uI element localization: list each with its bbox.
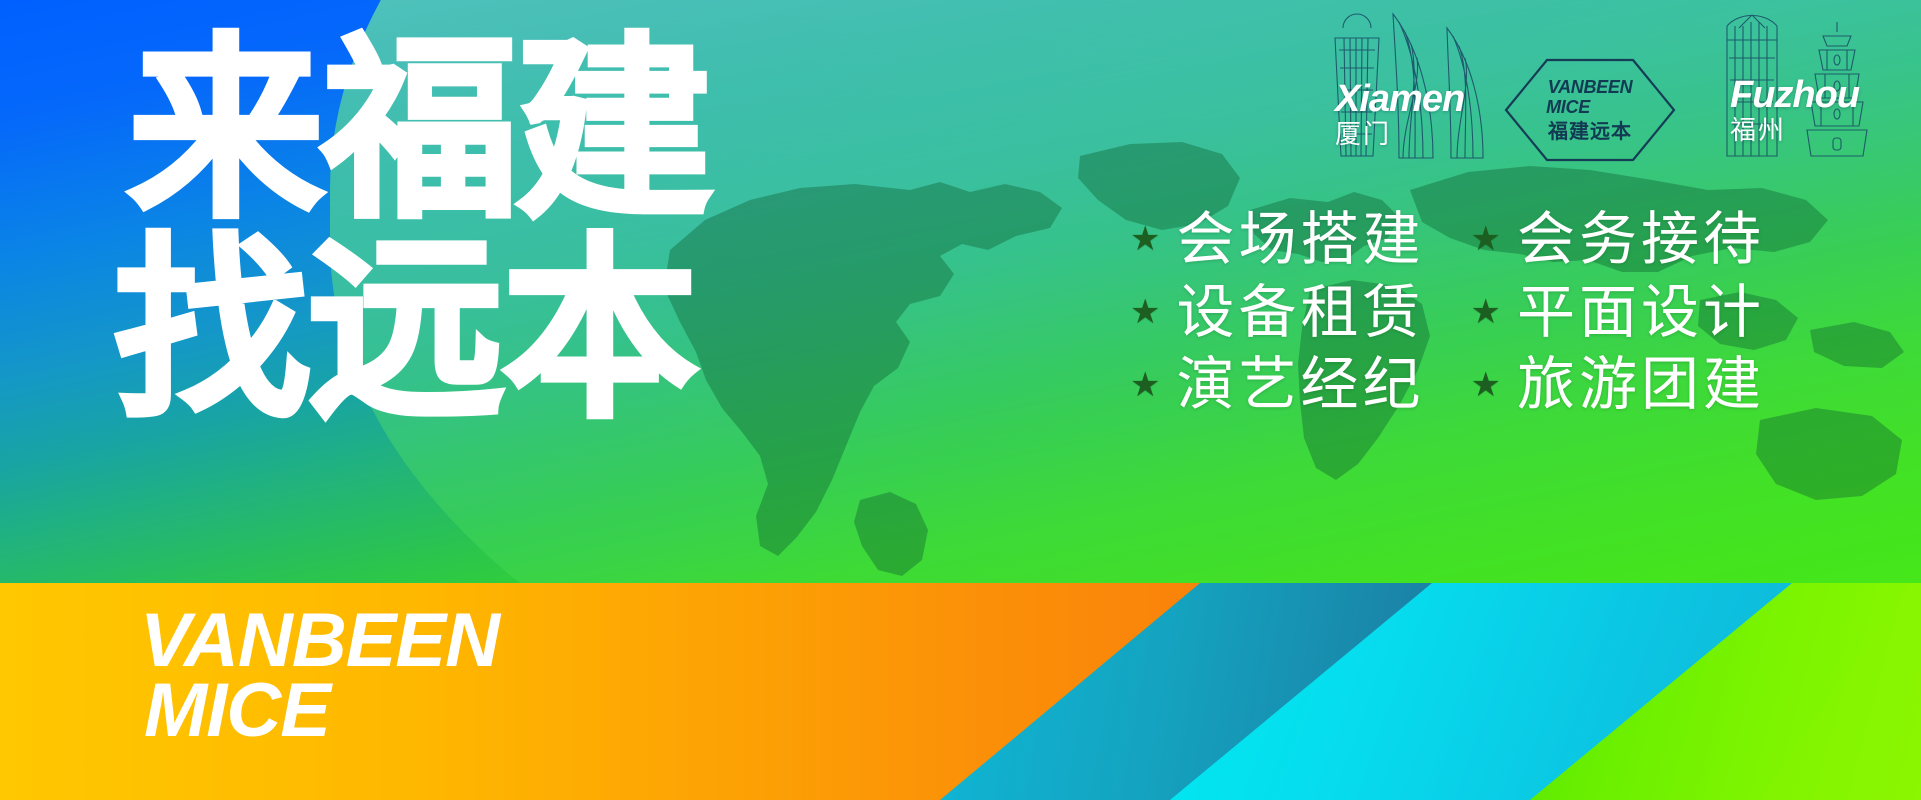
star-icon: ★ xyxy=(1471,295,1501,329)
service-label: 平面设计 xyxy=(1517,281,1765,344)
brand-hex-badge: VANBEEN MICE 福建远本 xyxy=(1504,58,1676,162)
service-item: ★ 旅游团建 xyxy=(1471,353,1766,416)
service-label: 旅游团建 xyxy=(1517,353,1765,416)
service-label: 设备租赁 xyxy=(1176,281,1424,344)
wordmark-line-2: MICE xyxy=(144,676,499,746)
service-list: ★ 会场搭建 ★ 会务接待 ★ 设备租赁 ★ 平面设计 ★ 演艺经纪 ★ 旅游团… xyxy=(1130,208,1765,416)
city-name-en: Xiamen xyxy=(1335,80,1464,118)
service-label: 会场搭建 xyxy=(1176,208,1424,271)
service-item: ★ 会务接待 xyxy=(1471,208,1766,271)
headline-line-1: 来福建 xyxy=(128,34,710,228)
promotional-banner: 来福建 找远本 xyxy=(0,0,1921,800)
service-item: ★ 演艺经纪 xyxy=(1130,353,1425,416)
headline-line-2: 找远本 xyxy=(114,234,710,428)
city-name-cn: 厦门 xyxy=(1335,121,1464,151)
service-item: ★ 平面设计 xyxy=(1471,281,1766,344)
star-icon: ★ xyxy=(1130,295,1160,329)
star-icon: ★ xyxy=(1471,222,1501,256)
badge-text-en-2: MICE xyxy=(1546,98,1590,116)
city-brand-bar: Xiamen 厦门 VANBEEN MICE 福建远本 Fuzhou 福州 xyxy=(1315,6,1915,176)
star-icon: ★ xyxy=(1130,222,1160,256)
badge-text-en-1: VANBEEN xyxy=(1548,78,1633,96)
page-title: 来福建 找远本 xyxy=(128,34,710,428)
service-label: 会务接待 xyxy=(1517,208,1765,271)
wordmark-line-1: VANBEEN xyxy=(140,606,499,676)
city-name-en: Fuzhou xyxy=(1730,76,1859,114)
badge-text-cn: 福建远本 xyxy=(1548,120,1632,142)
city-name-cn: 福州 xyxy=(1730,117,1859,147)
brand-wordmark: VANBEEN MICE xyxy=(140,606,499,746)
star-icon: ★ xyxy=(1471,368,1501,402)
scene-background: 来福建 找远本 xyxy=(0,0,1921,583)
city-label-fuzhou: Fuzhou 福州 xyxy=(1730,76,1859,147)
service-label: 演艺经纪 xyxy=(1176,353,1424,416)
service-item: ★ 会场搭建 xyxy=(1130,208,1425,271)
star-icon: ★ xyxy=(1130,368,1160,402)
city-label-xiamen: Xiamen 厦门 xyxy=(1335,80,1464,151)
service-item: ★ 设备租赁 xyxy=(1130,281,1425,344)
